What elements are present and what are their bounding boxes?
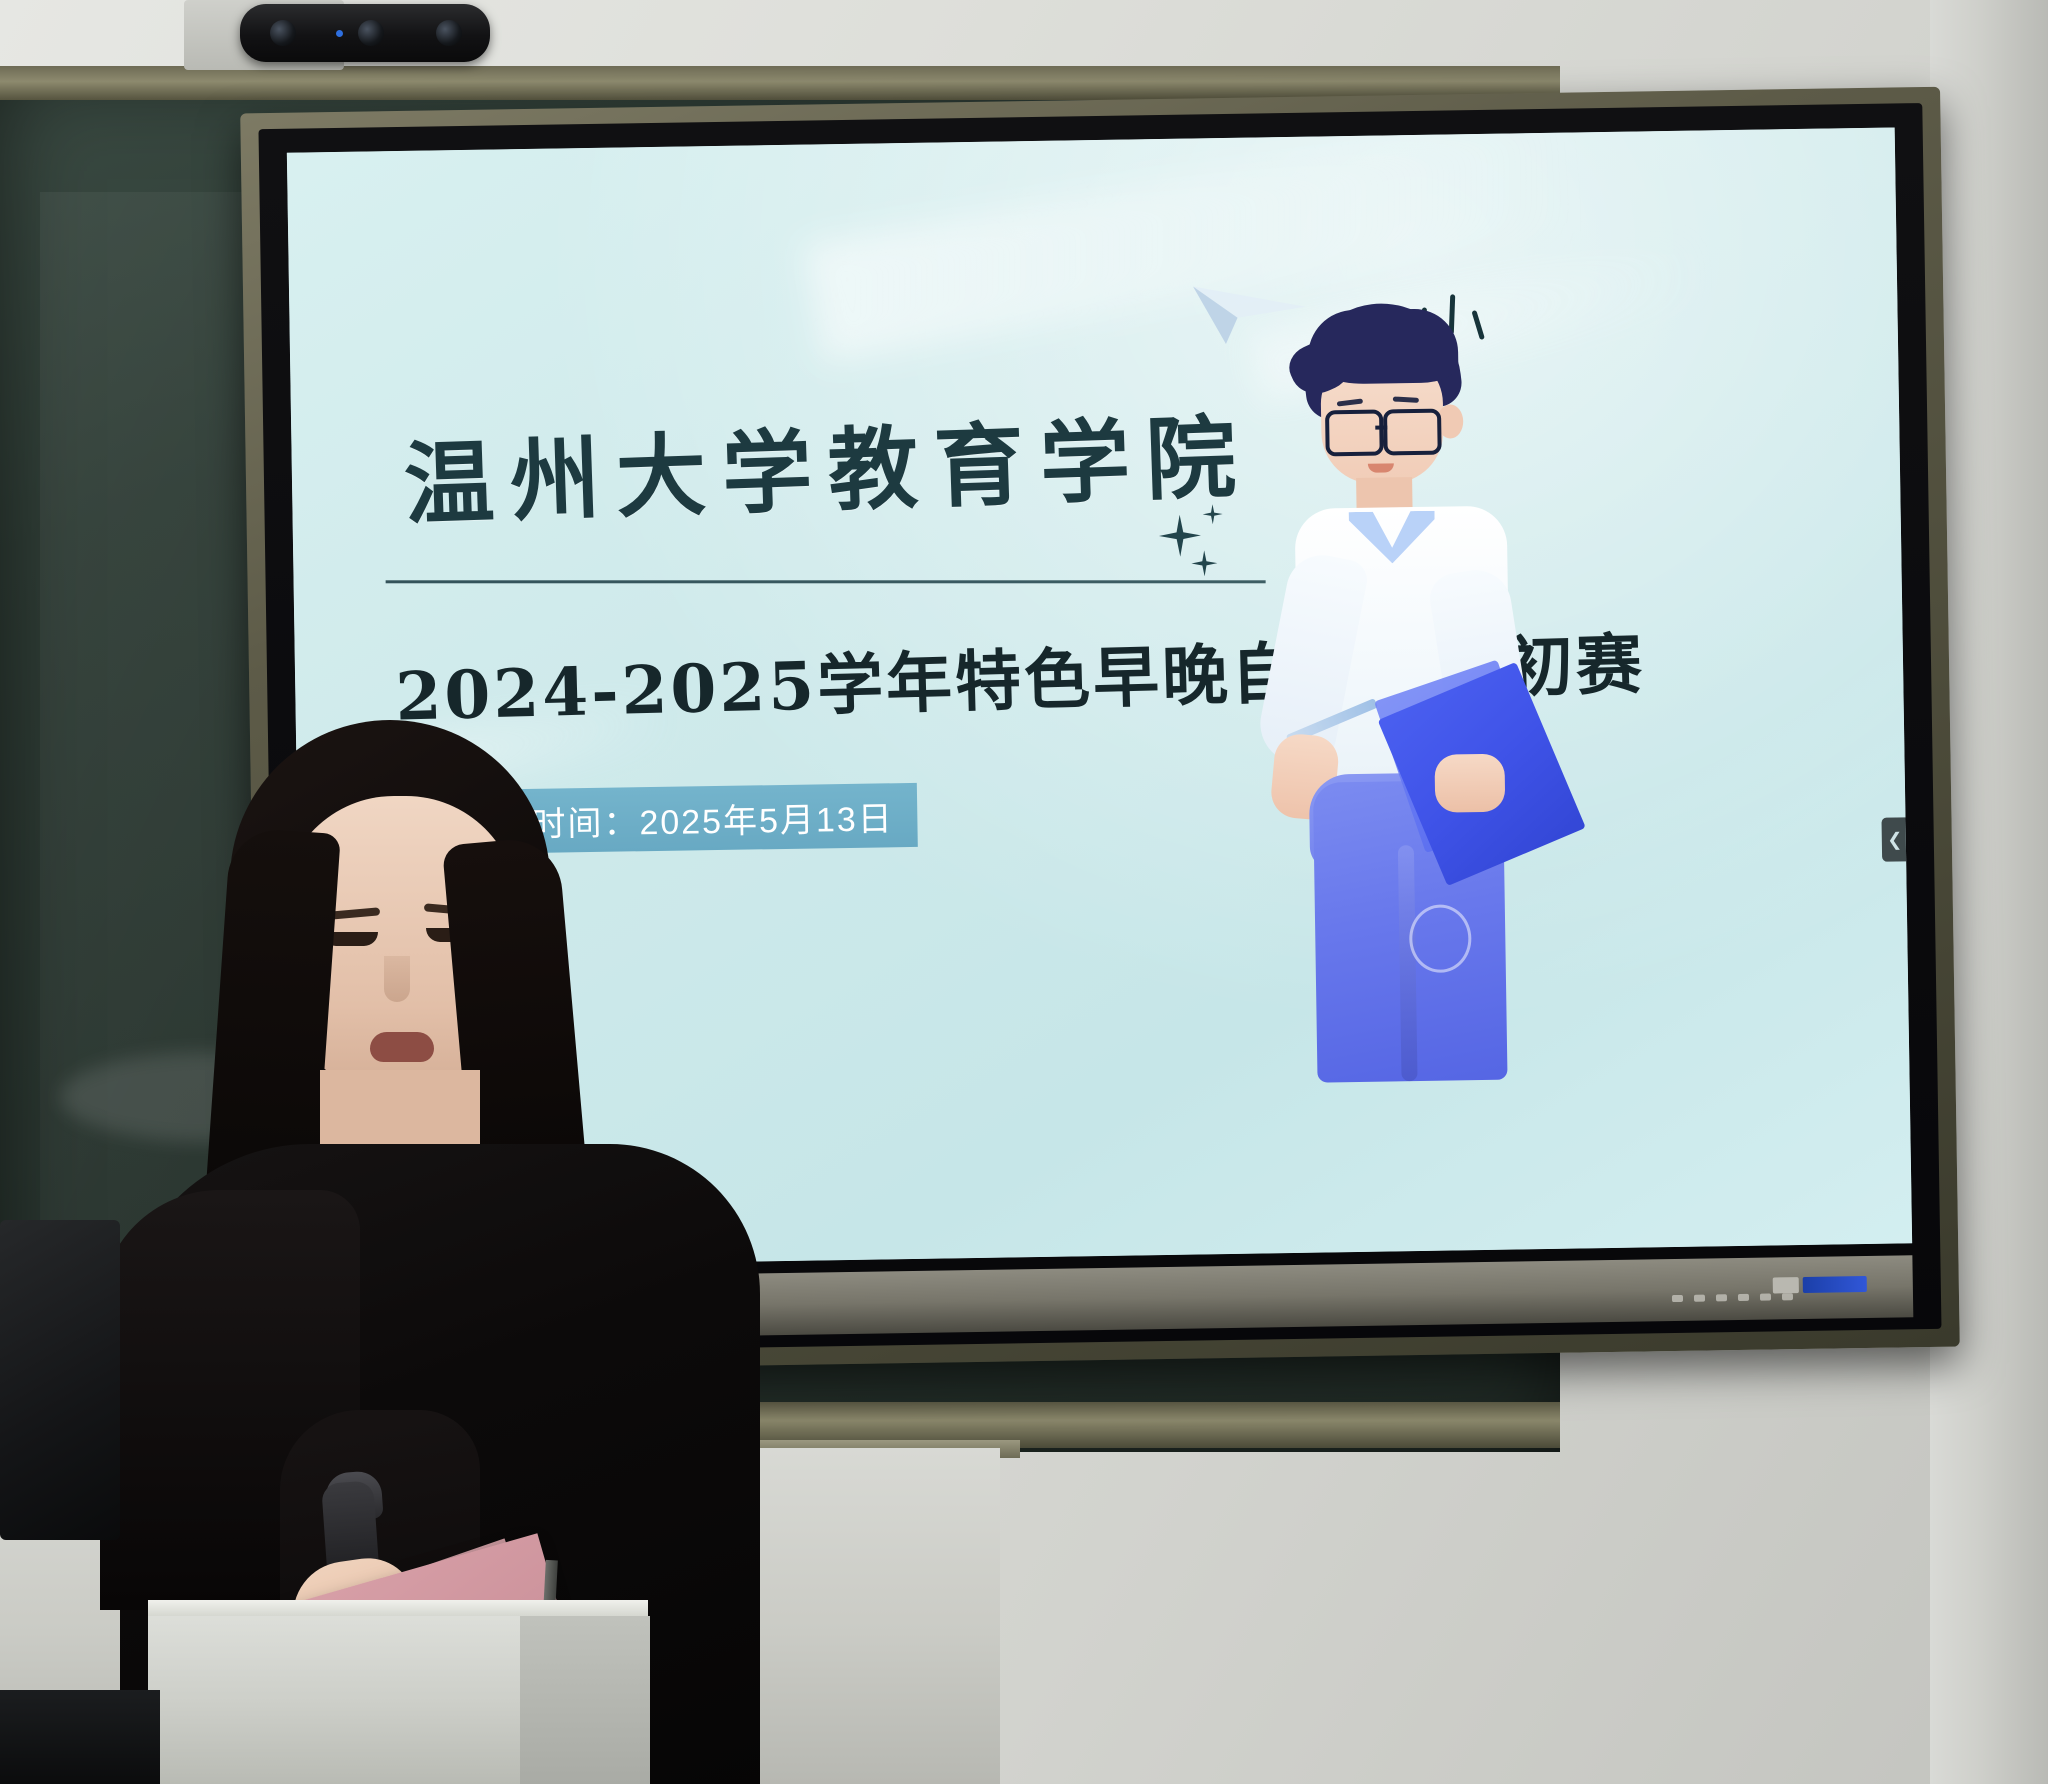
- glasses-icon: [1325, 410, 1384, 457]
- display-button[interactable]: [1782, 1293, 1793, 1300]
- title-divider: [386, 580, 1266, 583]
- presenter-nose: [384, 956, 410, 1002]
- display-power-indicator: [1803, 1276, 1867, 1293]
- chevron-left-icon[interactable]: ❮: [1881, 817, 1908, 861]
- presenter-mouth: [370, 1032, 434, 1062]
- illustration-hand-right: [1434, 754, 1505, 813]
- display-button[interactable]: [1738, 1294, 1749, 1301]
- camera-lens-icon: [436, 20, 462, 46]
- camera-lens-icon: [270, 20, 296, 46]
- student-illustration: [1249, 282, 1592, 1087]
- blackboard-frame-top: [0, 66, 1560, 100]
- sparkle-icon: [1191, 550, 1217, 576]
- display-button[interactable]: [1694, 1295, 1705, 1302]
- glasses-icon: [1383, 409, 1442, 456]
- display-button[interactable]: [1760, 1294, 1771, 1301]
- podium-side-panel: [520, 1616, 650, 1784]
- display-button-row[interactable]: [1672, 1293, 1793, 1302]
- foreground-shadow: [0, 1690, 160, 1784]
- podium-edge: [148, 1600, 648, 1616]
- display-button[interactable]: [1716, 1294, 1727, 1301]
- slide-title: 温州大学教育学院: [402, 384, 1254, 542]
- camera-status-led: [336, 30, 343, 37]
- display-indicator-plate: [1773, 1277, 1799, 1293]
- screenshot-root: 温州大学教育学院 2024-2025学年特色早晚自习评比初赛 时间：2025年5…: [0, 0, 2048, 1784]
- display-button[interactable]: [1672, 1295, 1683, 1302]
- conference-camera: [240, 4, 490, 62]
- camera-lens-icon: [358, 20, 384, 46]
- glasses-bridge: [1375, 425, 1387, 429]
- desk-monitor: [0, 1220, 120, 1540]
- sparkle-icon: [1159, 514, 1202, 557]
